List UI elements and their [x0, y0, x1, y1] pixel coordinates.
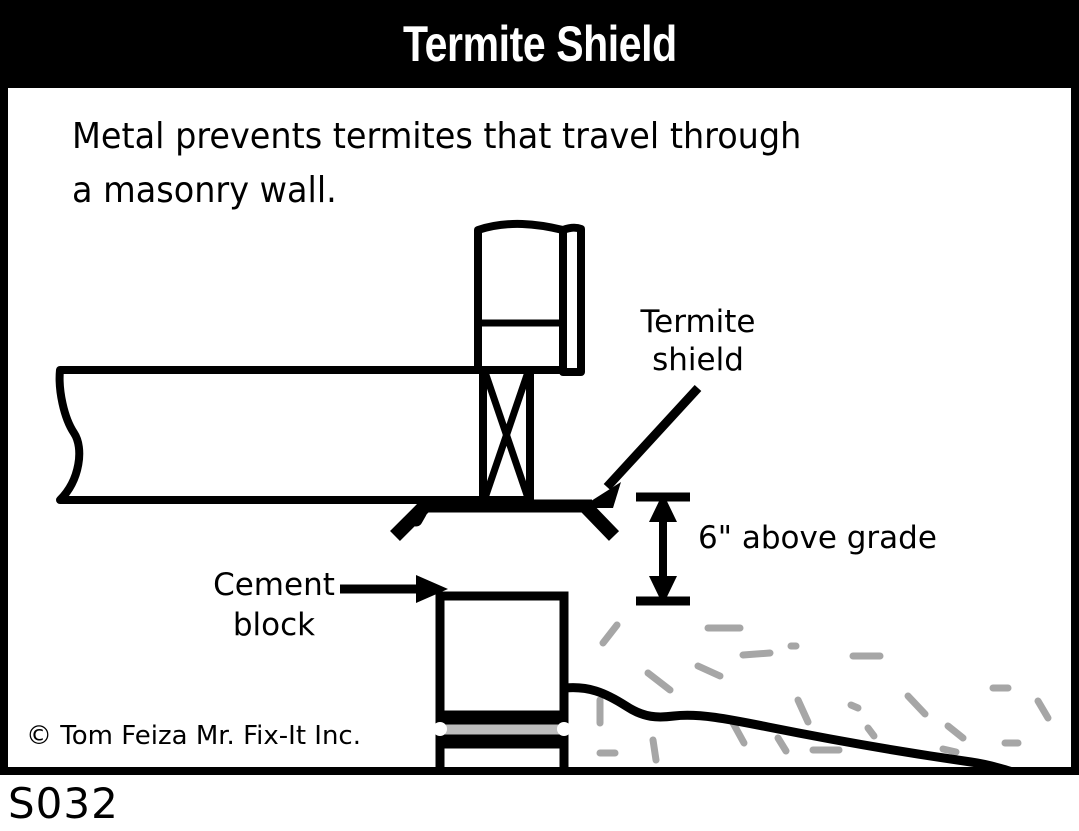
drawing-code: S032 [8, 779, 119, 828]
cement-block-upper [440, 596, 564, 715]
page-title: Termite Shield [403, 15, 677, 73]
title-bar: Termite Shield [0, 0, 1079, 88]
above-grade-dimension [636, 493, 690, 605]
wall-framing-section [478, 224, 563, 370]
cement-block-lower [440, 744, 564, 767]
wall-sheathing-strip [563, 228, 581, 372]
cement-block-label-line-2: block [194, 605, 354, 645]
mortar-notch-right [557, 722, 571, 736]
mortar-notch-left [433, 722, 447, 736]
diagram-canvas: Metal prevents termites that travel thro… [8, 88, 1071, 767]
termite-shield-right-drip [586, 507, 614, 536]
grade-line [565, 688, 1063, 767]
intro-line-2: a masonry wall. [72, 164, 965, 218]
mortar-joint [440, 720, 564, 739]
termite-shield-label-line-2: shield [608, 341, 788, 379]
cement-block-label-line-1: Cement [194, 565, 354, 605]
cement-block-callout-arrow [340, 575, 448, 603]
cement-block-label: Cement block [194, 565, 354, 645]
above-grade-label: 6" above grade [698, 520, 937, 556]
termite-shield-label: Termite shield [608, 303, 788, 379]
diagram-page: Termite Shield [0, 0, 1079, 831]
illustration-card: Termite Shield [0, 0, 1079, 775]
copyright-notice: © Tom Feiza Mr. Fix-It Inc. [26, 721, 361, 751]
termite-shield-callout-arrow [580, 388, 698, 508]
intro-text: Metal prevents termites that travel thro… [72, 110, 965, 218]
floor-joist-beam [60, 370, 483, 500]
termite-shield-label-line-1: Termite [608, 303, 788, 341]
intro-line-1: Metal prevents termites that travel thro… [72, 110, 965, 164]
